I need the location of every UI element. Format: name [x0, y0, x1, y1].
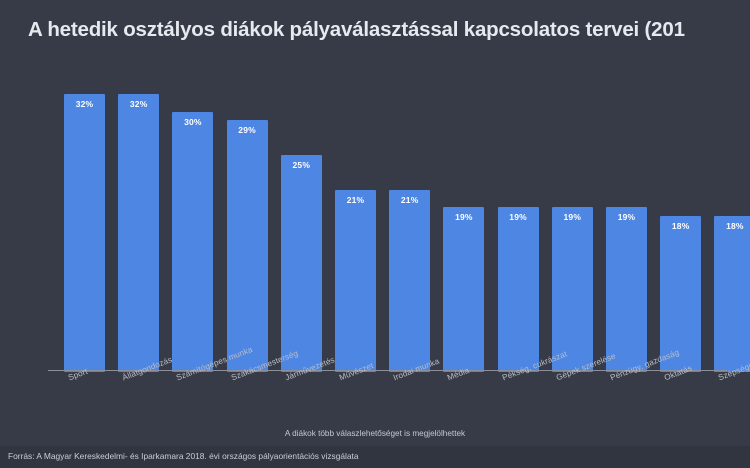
bar-group[interactable]: 30%	[172, 2, 213, 372]
bar-group[interactable]: 19%	[443, 2, 484, 372]
bar-value-label: 18%	[660, 221, 701, 231]
bar-value-label: 19%	[498, 212, 539, 222]
bar-value-label: 32%	[118, 99, 159, 109]
bar-group[interactable]: 21%	[389, 2, 430, 372]
bar-group[interactable]: 18%	[660, 2, 701, 372]
bar[interactable]	[118, 94, 159, 372]
bar-group[interactable]: 32%	[64, 2, 105, 372]
bar[interactable]	[443, 207, 484, 372]
bar-value-label: 19%	[606, 212, 647, 222]
bar[interactable]	[606, 207, 647, 372]
bar-value-label: 21%	[335, 195, 376, 205]
bar-value-label: 19%	[443, 212, 484, 222]
bar[interactable]	[227, 120, 268, 372]
bar[interactable]	[64, 94, 105, 372]
bar-group[interactable]: 29%	[227, 2, 268, 372]
bar-group[interactable]: 19%	[552, 2, 593, 372]
bar-value-label: 19%	[552, 212, 593, 222]
bar-group[interactable]: 25%	[281, 2, 322, 372]
bar-value-label: 21%	[389, 195, 430, 205]
bar[interactable]	[389, 190, 430, 372]
bar-value-label: 29%	[227, 125, 268, 135]
bar[interactable]	[335, 190, 376, 372]
source-text: Forrás: A Magyar Kereskedelmi- és Iparka…	[8, 451, 359, 461]
bar-group[interactable]: 19%	[498, 2, 539, 372]
bar[interactable]	[172, 112, 213, 372]
bar-group[interactable]: 21%	[335, 2, 376, 372]
bar-chart: A hetedik osztályos diákok pályaválasztá…	[0, 0, 750, 468]
plot-area: 32%32%30%29%25%21%21%19%19%19%19%18%18%	[0, 0, 750, 372]
source-band: Forrás: A Magyar Kereskedelmi- és Iparka…	[0, 446, 750, 468]
bar-group[interactable]: 32%	[118, 2, 159, 372]
bar[interactable]	[552, 207, 593, 372]
bar-group[interactable]: 19%	[606, 2, 647, 372]
bar[interactable]	[498, 207, 539, 372]
bar-value-label: 18%	[714, 221, 750, 231]
bar-value-label: 25%	[281, 160, 322, 170]
bar-group[interactable]: 18%	[714, 2, 750, 372]
bar[interactable]	[281, 155, 322, 372]
bar-value-label: 30%	[172, 117, 213, 127]
chart-annotation: A diákok több válaszlehetőséget is megje…	[0, 429, 750, 438]
bar[interactable]	[714, 216, 750, 372]
bar-value-label: 32%	[64, 99, 105, 109]
bar[interactable]	[660, 216, 701, 372]
